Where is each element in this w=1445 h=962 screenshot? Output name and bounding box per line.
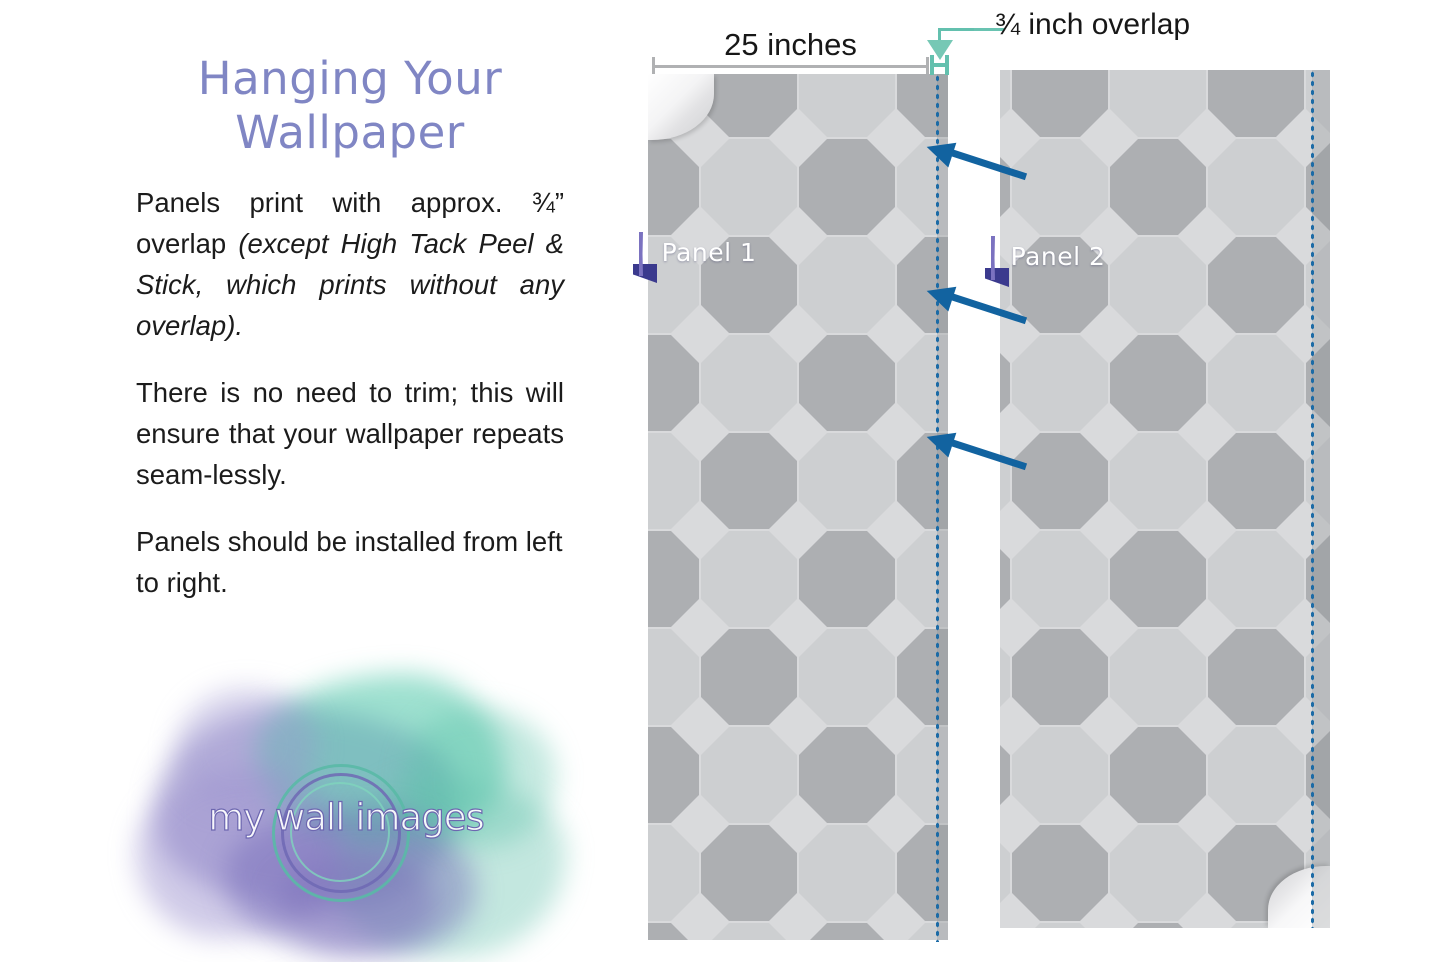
seam-dotted-line-panel-2 [1310, 70, 1315, 928]
paragraph-no-trim: There is no need to trim; this will ensu… [136, 372, 564, 495]
instructions-column: Hanging Your Wallpaper Panels print with… [136, 52, 564, 629]
dimension-tick-left [652, 57, 655, 74]
wallpaper-panel-2 [1000, 70, 1330, 928]
page-title: Hanging Your Wallpaper [136, 52, 564, 160]
brand-watermark: my wall images [106, 648, 576, 948]
width-dimension-label: 25 inches [652, 27, 929, 63]
instruction-graphic: Hanging Your Wallpaper Panels print with… [0, 0, 1445, 962]
page-title-line2: Wallpaper [235, 106, 465, 159]
width-dimension-line [652, 65, 929, 68]
panel-2-label-text: Panel 2 [991, 236, 1143, 276]
octagon-pattern [1000, 70, 1330, 928]
paragraph-overlap-note: Panels print with approx. ¾” overlap (ex… [136, 182, 564, 346]
overlap-arrow-icon [927, 40, 953, 60]
panel-1-label-text: Panel 1 [639, 232, 797, 272]
panel-2-ribbon-label: Panel 2 [985, 236, 1137, 276]
page-title-line1: Hanging Your [198, 52, 502, 105]
paragraph-install-order: Panels should be installed from left to … [136, 521, 564, 603]
wallpaper-panel-1 [648, 74, 948, 940]
seam-dotted-line-panel-1 [935, 74, 940, 942]
brand-name: my wall images [186, 798, 506, 838]
octagon-pattern [648, 74, 948, 940]
overlap-dimension-label: ¾ inch overlap [995, 8, 1190, 42]
panel-1-ribbon-label: Panel 1 [633, 232, 791, 272]
